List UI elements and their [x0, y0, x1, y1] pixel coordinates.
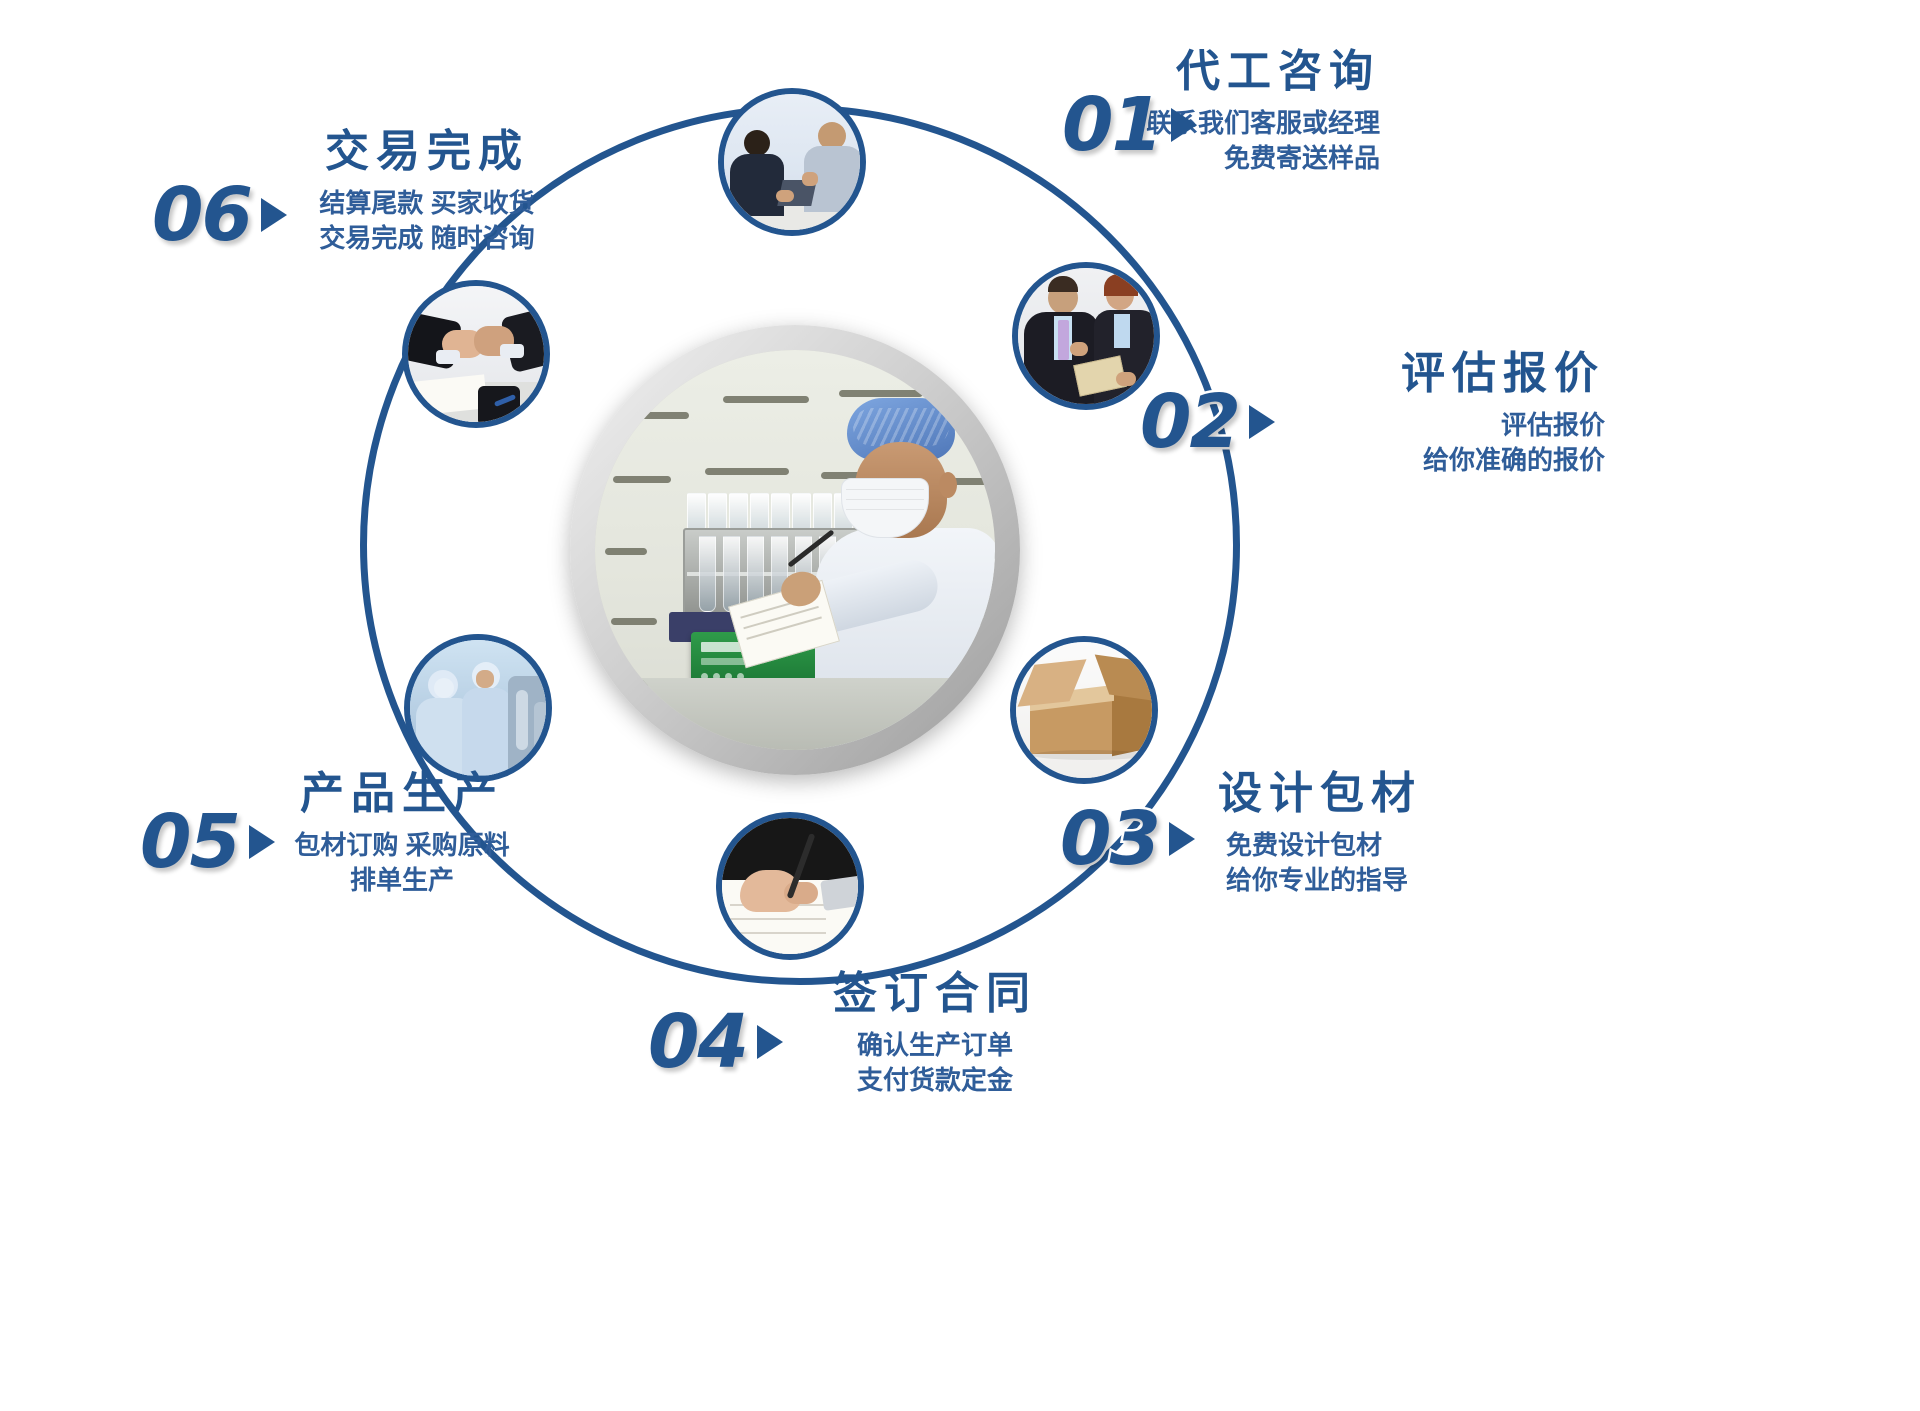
center-lab-photo: 31 — [595, 350, 995, 750]
step-number-01: 01 — [1062, 88, 1161, 162]
step-number-group-06: 06 — [152, 178, 287, 252]
step-title-05: 产品生产 — [268, 770, 536, 818]
step-line-03-2: 给你专业的指导 — [1226, 863, 1526, 898]
carton-box-photo — [1016, 642, 1152, 778]
step-line-02-1: 评估报价 — [1330, 408, 1605, 443]
arrow-icon-01 — [1171, 108, 1197, 142]
step-number-group-04: 04 — [648, 1005, 783, 1079]
step-title-02: 评估报价 — [1330, 350, 1605, 398]
step-photo-02[interactable] — [1012, 262, 1160, 410]
cleanroom-production-photo — [410, 640, 546, 776]
step-block-06: 交易完成 结算尾款 买家收货 交易完成 随时咨询 — [288, 128, 566, 256]
step-number-02: 02 — [1140, 385, 1239, 459]
step-number-05: 05 — [140, 805, 239, 879]
step-line-04-2: 支付货款定金 — [790, 1063, 1080, 1098]
step-photo-01[interactable] — [718, 88, 866, 236]
business-meeting-photo — [724, 94, 860, 230]
step-line-05-2: 排单生产 — [268, 863, 536, 898]
step-title-04: 签订合同 — [790, 970, 1080, 1018]
step-number-group-01: 01 — [1062, 88, 1197, 162]
step-photo-04[interactable] — [716, 812, 864, 960]
arrow-icon-06 — [261, 198, 287, 232]
step-photo-06[interactable] — [402, 280, 550, 428]
step-line-06-2: 交易完成 随时咨询 — [288, 221, 566, 256]
step-number-group-02: 02 — [1140, 385, 1275, 459]
arrow-icon-04 — [757, 1025, 783, 1059]
step-block-04: 签订合同 确认生产订单 支付货款定金 — [790, 970, 1080, 1098]
arrow-icon-03 — [1169, 822, 1195, 856]
infographic-canvas: 31 — [0, 0, 1920, 1411]
step-title-03: 设计包材 — [1218, 770, 1518, 818]
step-number-03: 03 — [1060, 802, 1159, 876]
handshake-deal-photo — [408, 286, 544, 422]
contract-signing-photo — [722, 818, 858, 954]
step-line-05-1: 包材订购 采购原料 — [268, 828, 536, 863]
step-line-03-1: 免费设计包材 — [1226, 828, 1526, 863]
step-block-02: 评估报价 评估报价 给你准确的报价 — [1330, 350, 1605, 478]
step-number-04: 04 — [648, 1005, 747, 1079]
step-line-02-2: 给你准确的报价 — [1330, 443, 1605, 478]
step-title-06: 交易完成 — [288, 128, 566, 176]
step-photo-03[interactable] — [1010, 636, 1158, 784]
center-photo-frame: 31 — [570, 325, 1020, 775]
arrow-icon-05 — [249, 825, 275, 859]
step-line-04-1: 确认生产订单 — [790, 1028, 1080, 1063]
step-photo-05[interactable] — [404, 634, 552, 782]
arrow-icon-02 — [1249, 405, 1275, 439]
step-number-group-03: 03 — [1060, 802, 1195, 876]
step-line-06-1: 结算尾款 买家收货 — [288, 186, 566, 221]
step-block-05: 产品生产 包材订购 采购原料 排单生产 — [268, 770, 536, 898]
consultants-discussing-photo — [1018, 268, 1154, 404]
lab-bench — [595, 678, 995, 750]
step-number-06: 06 — [152, 178, 251, 252]
step-number-group-05: 05 — [140, 805, 275, 879]
step-block-03: 设计包材 免费设计包材 给你专业的指导 — [1218, 770, 1526, 898]
